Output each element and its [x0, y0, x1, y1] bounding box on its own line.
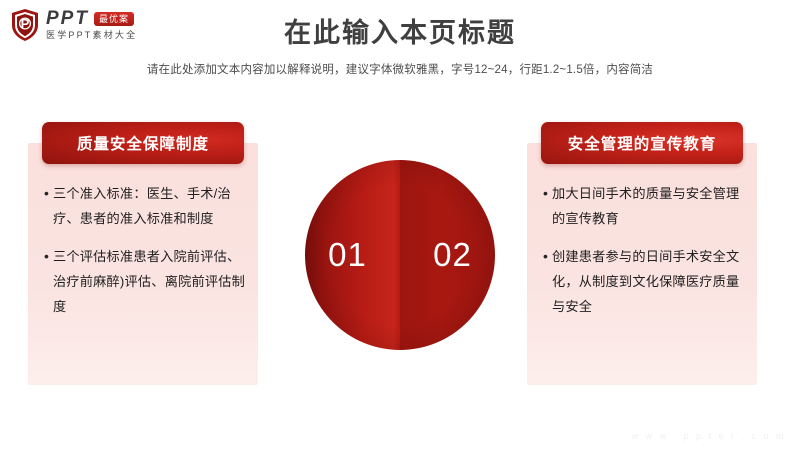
list-item-text: 三个评估标准患者入院前评估、治疗前麻醉)评估、离院前评估制度 [53, 244, 248, 319]
circle-half-right: 02 [400, 160, 495, 350]
bullet-marker-icon: • [40, 181, 53, 206]
footer-watermark: w w w . p p t e r . c o m [631, 431, 786, 441]
card-header-right: 安全管理的宣传教育 [541, 122, 743, 164]
circle-number-02: 02 [433, 236, 472, 274]
page-title: 在此输入本页标题 [0, 16, 800, 50]
circle-number-01: 01 [328, 236, 367, 274]
content-card-left: 质量安全保障制度 • 三个准入标准：医生、手术/治疗、患者的准入标准和制度 • … [28, 143, 258, 385]
bullet-marker-icon: • [40, 244, 53, 269]
list-item: • 创建患者参与的日间手术安全文化，从制度到文化保障医疗质量与安全 [539, 244, 747, 319]
slide-canvas: P PPT 最优案 医学PPT素材大全 在此输入本页标题 请在此处添加文本内容加… [0, 0, 800, 450]
list-item: • 三个评估标准患者入院前评估、治疗前麻醉)评估、离院前评估制度 [40, 244, 248, 319]
card-body-left: • 三个准入标准：医生、手术/治疗、患者的准入标准和制度 • 三个评估标准患者入… [40, 181, 248, 377]
center-number-circle: 01 02 [305, 160, 495, 350]
list-item-text: 创建患者参与的日间手术安全文化，从制度到文化保障医疗质量与安全 [552, 244, 747, 319]
list-item-text: 加大日间手术的质量与安全管理的宣传教育 [552, 181, 747, 231]
list-item: • 加大日间手术的质量与安全管理的宣传教育 [539, 181, 747, 231]
bullet-marker-icon: • [539, 181, 552, 206]
content-card-right: 安全管理的宣传教育 • 加大日间手术的质量与安全管理的宣传教育 • 创建患者参与… [527, 143, 757, 385]
list-item-text: 三个准入标准：医生、手术/治疗、患者的准入标准和制度 [53, 181, 248, 231]
card-body-right: • 加大日间手术的质量与安全管理的宣传教育 • 创建患者参与的日间手术安全文化，… [539, 181, 747, 377]
page-subtitle: 请在此处添加文本内容加以解释说明，建议字体微软雅黑，字号12~24，行距1.2~… [0, 61, 800, 79]
bullet-marker-icon: • [539, 244, 552, 269]
card-header-left: 质量安全保障制度 [42, 122, 244, 164]
list-item: • 三个准入标准：医生、手术/治疗、患者的准入标准和制度 [40, 181, 248, 231]
circle-half-left: 01 [305, 160, 400, 350]
